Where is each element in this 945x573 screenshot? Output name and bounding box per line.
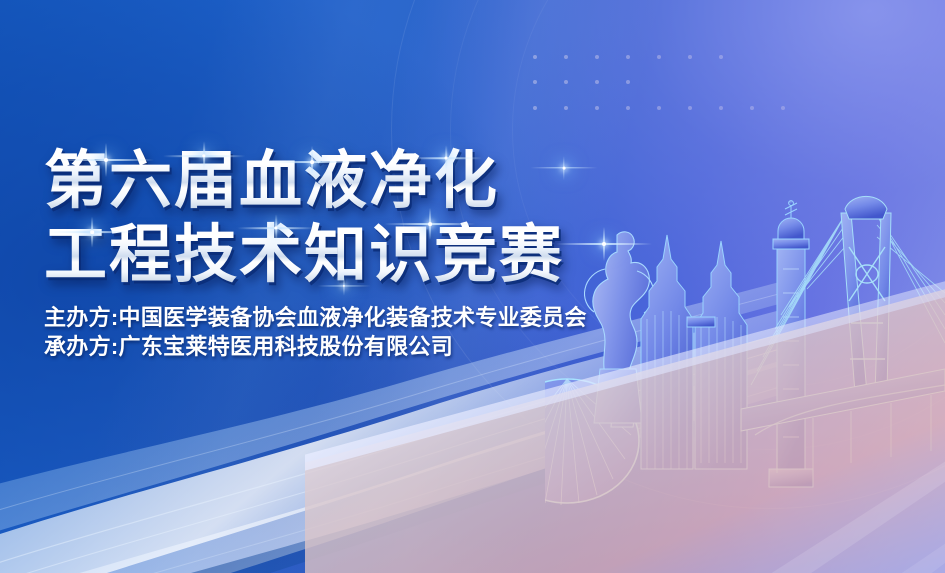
matrix-dot	[719, 55, 723, 59]
matrix-dot	[564, 80, 568, 84]
matrix-dot	[564, 106, 568, 110]
matrix-dot	[564, 55, 568, 59]
matrix-dot	[595, 55, 599, 59]
matrix-dot	[533, 106, 537, 110]
title-line-1: 第六届血液净化	[44, 146, 564, 216]
event-banner: 第六届血液净化 工程技术知识竞赛 主办方:中国医学装备协会血液净化装备技术专业委…	[0, 0, 945, 573]
matrix-dot	[750, 106, 754, 110]
matrix-dot	[688, 55, 692, 59]
matrix-dot	[688, 106, 692, 110]
bridge-pylon-crown	[845, 196, 887, 219]
title-line-2: 工程技术知识竞赛	[44, 220, 564, 290]
matrix-dot	[657, 55, 661, 59]
matrix-dot	[626, 55, 630, 59]
matrix-dot	[626, 106, 630, 110]
matrix-dot	[533, 80, 537, 84]
matrix-dot	[781, 106, 785, 110]
matrix-dot	[657, 106, 661, 110]
banner-title: 第六届血液净化 工程技术知识竞赛	[44, 146, 564, 290]
matrix-dot	[595, 80, 599, 84]
matrix-dot	[626, 80, 630, 84]
organizer-line: 主办方:中国医学装备协会血液净化装备技术专业委员会	[44, 303, 587, 332]
matrix-dot	[595, 106, 599, 110]
banner-subtitle: 主办方:中国医学装备协会血液净化装备技术专业委员会 承办方:广东宝莱特医用科技股…	[44, 303, 587, 361]
matrix-dot	[533, 55, 537, 59]
host-line: 承办方:广东宝莱特医用科技股份有限公司	[44, 332, 587, 361]
matrix-dot	[719, 106, 723, 110]
